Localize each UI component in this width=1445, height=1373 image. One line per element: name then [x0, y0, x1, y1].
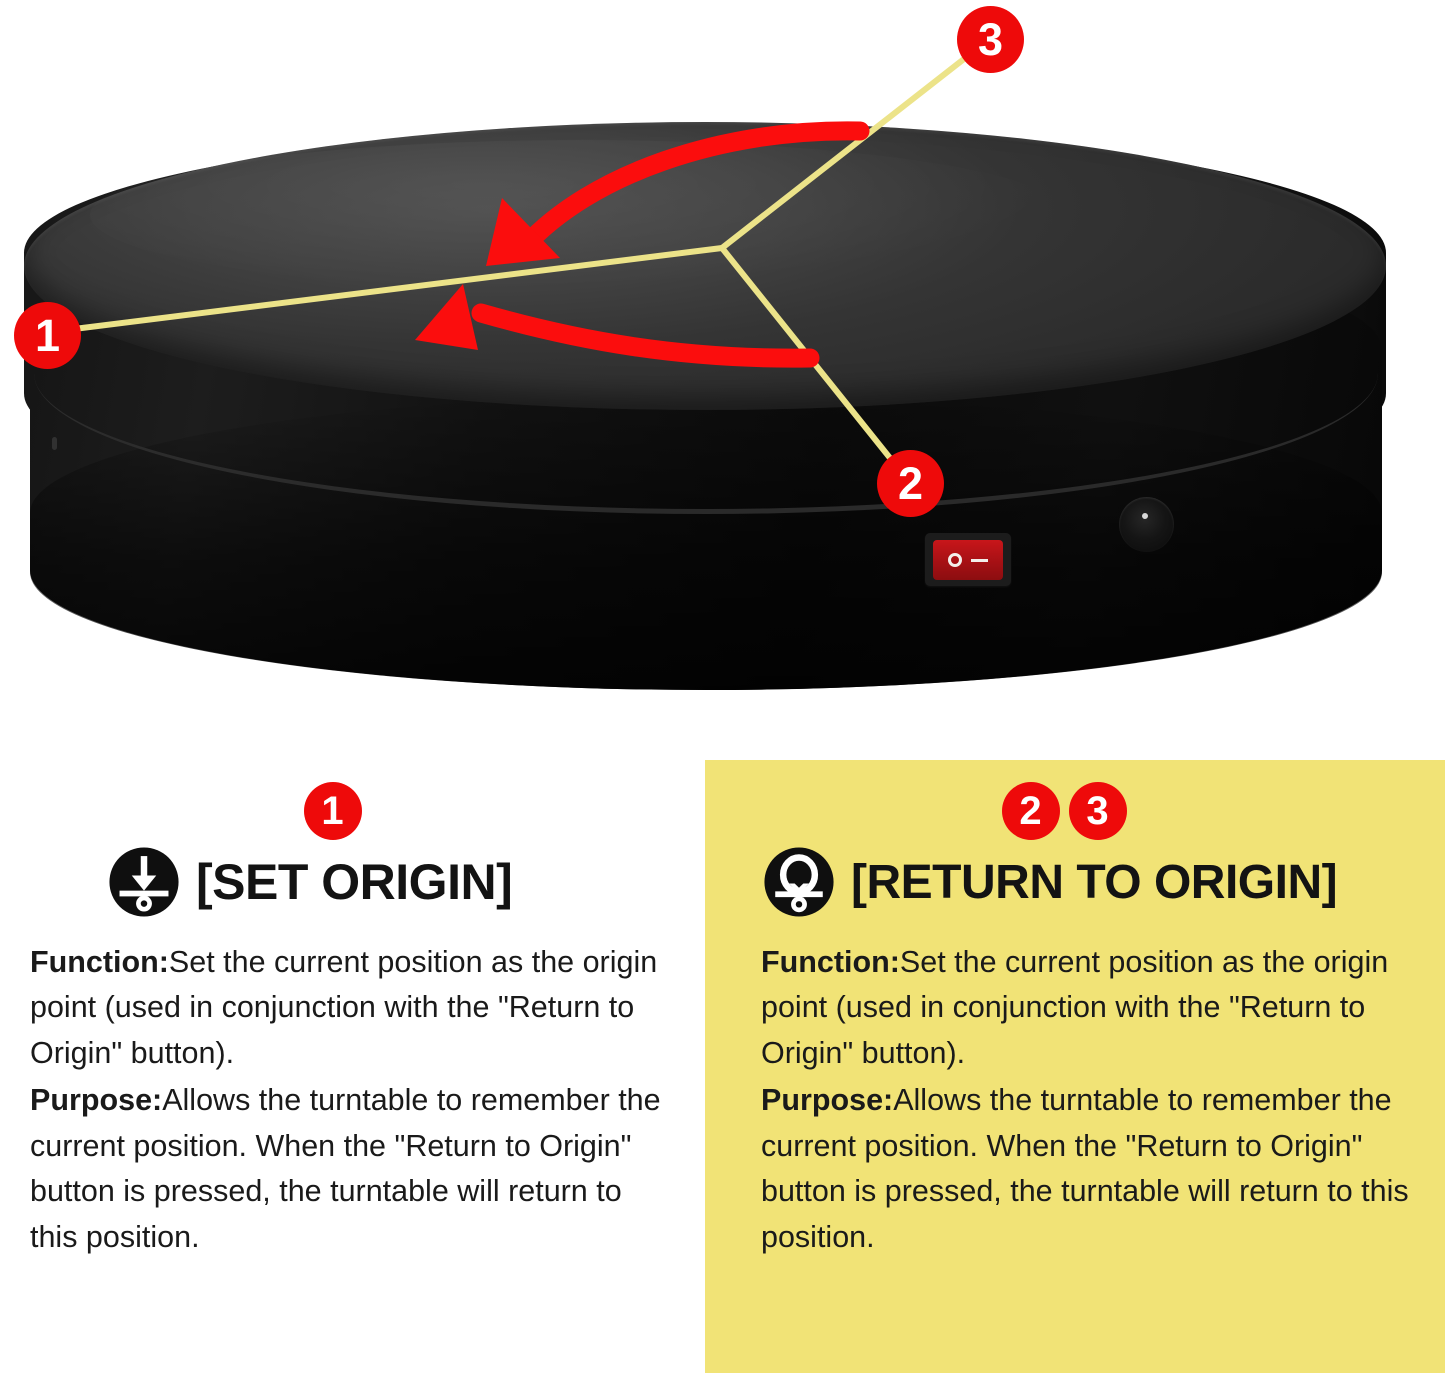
panel-title-row-return-to-origin: [RETURN TO ORIGIN]	[753, 846, 1419, 918]
purpose-label-right: Purpose:	[761, 1083, 893, 1117]
leader-line-1	[66, 248, 722, 330]
annotation-overlay	[0, 0, 1445, 760]
rotation-arrow-upper	[486, 131, 860, 266]
callout-badge-1[interactable]: 1	[14, 302, 81, 369]
panel-title-return-to-origin: [RETURN TO ORIGIN]	[851, 855, 1337, 910]
panel-badges-return-to-origin: 2 3	[753, 782, 1419, 840]
purpose-label-left: Purpose:	[30, 1083, 162, 1117]
panel-badge-1: 1	[304, 782, 362, 840]
panel-function-set-origin: Function:Set the current position as the…	[24, 940, 677, 1076]
panel-title-row-set-origin: [SET ORIGIN]	[24, 846, 677, 918]
panel-purpose-set-origin: Purpose:Allows the turntable to remember…	[24, 1078, 677, 1260]
return-to-origin-icon	[763, 846, 835, 918]
info-panels: 1 [SET ORIGIN] Function:Set the current …	[0, 760, 1445, 1373]
panel-purpose-return-to-origin: Purpose:Allows the turntable to remember…	[753, 1078, 1419, 1260]
panel-title-set-origin: [SET ORIGIN]	[196, 853, 512, 911]
panel-return-to-origin: 2 3 [RETURN TO ORIGIN] Function:Set the …	[705, 760, 1445, 1373]
callout-badge-3[interactable]: 3	[957, 6, 1024, 73]
callout-badge-2[interactable]: 2	[877, 450, 944, 517]
panel-badges-set-origin: 1	[24, 782, 677, 840]
panel-badge-3: 3	[1069, 782, 1127, 840]
panel-function-return-to-origin: Function:Set the current position as the…	[753, 940, 1419, 1076]
function-label-left: Function:	[30, 945, 169, 979]
panel-badge-2: 2	[1002, 782, 1060, 840]
panel-set-origin: 1 [SET ORIGIN] Function:Set the current …	[0, 760, 705, 1373]
rotation-arrow-lower	[415, 284, 810, 358]
product-photo: 1 2 3	[0, 0, 1445, 760]
set-origin-icon	[108, 846, 180, 918]
leader-lines	[66, 48, 978, 478]
leader-line-3	[722, 48, 978, 248]
function-label-right: Function:	[761, 945, 900, 979]
